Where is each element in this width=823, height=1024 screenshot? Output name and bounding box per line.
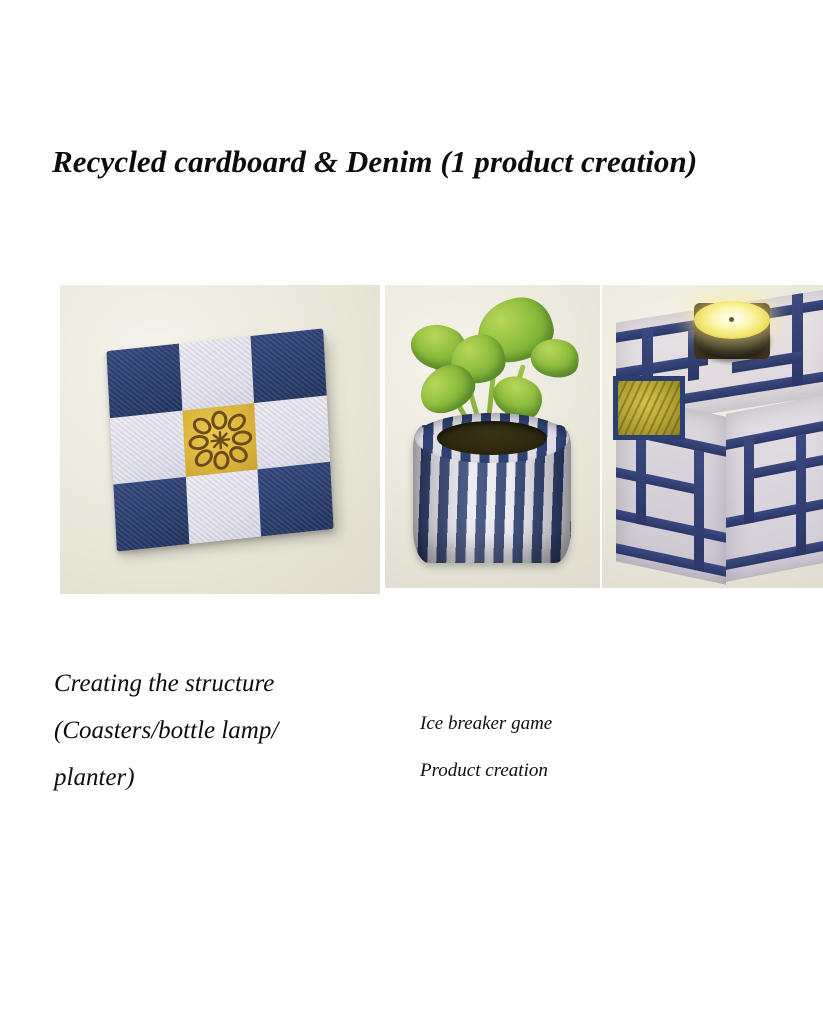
planter-opening — [437, 421, 547, 455]
coaster-cell-corner-bottom-right — [258, 462, 334, 536]
photo-strip — [0, 269, 823, 581]
coaster-cell-corner-bottom-left — [113, 477, 189, 551]
denim-box-object — [602, 285, 823, 588]
floral-medallion-icon — [182, 402, 258, 476]
coaster-patchwork-grid — [106, 328, 333, 551]
coaster-cell-edge-left — [110, 410, 186, 484]
caption-creating-the-structure: Creating the structure (Coasters/bottle … — [54, 660, 384, 801]
photo-denim-box-candle-lamp — [602, 285, 823, 588]
slide-page: Recycled cardboard & Denim (1 product cr… — [0, 0, 823, 1024]
caption-line: planter) — [54, 754, 384, 801]
photo-denim-patchwork-coaster — [60, 285, 380, 594]
photo-striped-denim-planter — [385, 285, 600, 588]
caption-line: Ice breaker game — [420, 700, 700, 747]
gold-leaf-patch — [618, 381, 680, 435]
box-side-face — [726, 392, 823, 582]
planter-object — [385, 285, 600, 588]
coaster-object — [106, 328, 333, 551]
tealight-wick — [729, 317, 734, 322]
caption-activities: Ice breaker game Product creation — [420, 700, 700, 794]
caption-line: (Coasters/bottle lamp/ — [54, 707, 384, 754]
coaster-cell-edge-bottom — [186, 469, 262, 543]
coaster-cell-center-gold — [182, 402, 258, 476]
page-title: Recycled cardboard & Denim (1 product cr… — [52, 144, 697, 180]
caption-line: Product creation — [420, 747, 700, 794]
caption-line: Creating the structure — [54, 660, 384, 707]
coaster-cell-corner-top-left — [106, 343, 182, 417]
coaster-cell-corner-top-right — [251, 328, 327, 402]
coaster-cell-edge-top — [179, 335, 255, 409]
coaster-cell-edge-right — [254, 395, 330, 469]
